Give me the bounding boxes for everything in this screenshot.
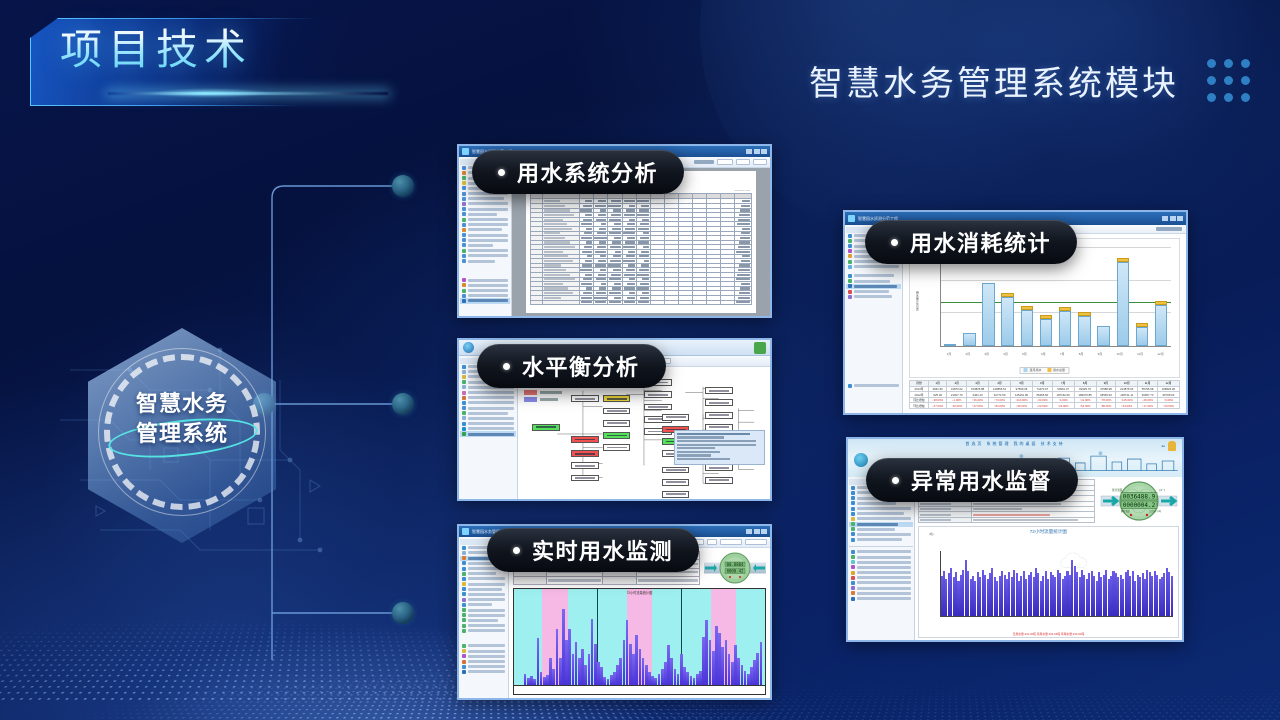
window-controls[interactable]	[746, 149, 767, 154]
tree-node[interactable]	[662, 491, 690, 498]
card-label-water-consumption-statistics[interactable]: 用水消耗统计	[865, 220, 1077, 264]
window-controls[interactable]	[1162, 216, 1183, 221]
app-icon	[462, 528, 469, 535]
bullet-icon	[891, 239, 898, 246]
svg-text:[m³]: [m³]	[1159, 488, 1165, 492]
tree-node[interactable]	[532, 424, 560, 431]
sidebar-action[interactable]	[846, 383, 901, 388]
meter-value-top: 0036488.9	[1123, 494, 1156, 501]
tree-node[interactable]	[705, 464, 733, 471]
svg-text:立方米/小时: 立方米/小时	[1149, 509, 1162, 513]
report-meta-right: ───── ──	[734, 188, 750, 192]
header-subtitle: 智慧水务管理系统模块	[809, 56, 1179, 105]
bullet-icon	[503, 363, 510, 370]
diagram-tooltip	[674, 430, 765, 464]
chart-bars	[524, 595, 763, 685]
sidebar-action[interactable]	[846, 294, 901, 299]
table-row	[918, 517, 1094, 522]
connector-node-bottom	[392, 602, 414, 624]
bullet-icon	[513, 547, 520, 554]
card-label-text: 实时用水监测	[532, 534, 673, 566]
chart-xtick: 4月	[1003, 352, 1008, 356]
card-label-text: 用水消耗统计	[910, 226, 1051, 258]
card-label-abnormal-water-supervision[interactable]: 异常用水监督	[866, 458, 1078, 502]
tree-node[interactable]	[571, 395, 599, 402]
chart-legend: 逐月用水 用水总量	[1020, 367, 1069, 375]
chart-bar	[1021, 306, 1033, 346]
chart-xtick: 9月	[1098, 352, 1103, 356]
tree-node[interactable]	[603, 408, 631, 415]
chart-bar	[1171, 576, 1173, 616]
chart-bar	[944, 345, 956, 346]
chart-bar	[982, 283, 994, 346]
banner-menu[interactable]: 首选页 系统管理 我的桌面 技术支持	[965, 441, 1064, 447]
tree-node[interactable]	[662, 479, 690, 486]
tree-node[interactable]	[571, 475, 599, 482]
chart-bar	[1117, 258, 1129, 346]
consumption-data-table: 月份1月2月3月4月5月6月7月8月9月10月11月12月2013年2861.9…	[909, 380, 1180, 409]
chart-x-axis	[514, 685, 765, 694]
chart-xtick: 11月	[1137, 352, 1143, 356]
page-header: 项目技术 智慧水务管理系统模块	[0, 0, 1280, 138]
chart-bar	[963, 333, 975, 346]
tree-node[interactable]	[571, 436, 599, 443]
chart-title: 72小时流量统计图	[626, 590, 652, 595]
chart-bar	[1155, 301, 1167, 345]
chart-xtick: 1月	[947, 352, 952, 356]
chart-xtick: 10月	[1117, 352, 1123, 356]
card-label-text: 水平衡分析	[522, 350, 640, 382]
legend-label: 逐月用水	[1029, 368, 1041, 372]
app-logo-icon	[463, 342, 474, 353]
abnormal-flow-chart: 72小时流量统计图 (吨) 日用水量:232.30吨 月用水量:226.95吨 …	[918, 526, 1179, 638]
card-label-water-balance-analysis[interactable]: 水平衡分析	[477, 344, 666, 388]
window-controls[interactable]	[746, 529, 767, 534]
chart-xtick: 3月	[984, 352, 989, 356]
chart-ylabel: 用水量(立方米)	[915, 291, 919, 311]
tree-node[interactable]	[603, 420, 631, 427]
tree-node[interactable]	[644, 404, 672, 411]
sidebar-item-selected[interactable]	[460, 431, 516, 436]
chart-bar	[760, 642, 763, 685]
chart-xtick: 5月	[1022, 352, 1027, 356]
chart-bar	[1059, 307, 1071, 345]
realtime-bar-chart: 72小时流量统计图	[513, 588, 766, 695]
table-row: 环比增幅↓27.00%↑10.00%↑47.00%↑84.00%↓59.00%↓…	[909, 403, 1179, 409]
tree-node[interactable]	[705, 399, 733, 406]
chart-footer-note: 日用水量:232.30吨 月用水量:226.95吨 年用水量:230.90吨	[919, 632, 1178, 636]
chart-xtick: 7月	[1060, 352, 1065, 356]
legend-label: 用水总量	[1053, 368, 1065, 372]
water-meter-icon: 00.8804 0000.42	[704, 551, 766, 585]
water-meter-icon: 累计流量 [m³] 0036488.9 0000004.2 瞬时流量 立方米/小…	[1099, 479, 1179, 523]
card-label-text: 用水系统分析	[517, 156, 658, 188]
chart-bar	[1078, 312, 1090, 346]
chart-xtick: 12月	[1157, 352, 1163, 356]
connector-node-top	[392, 175, 414, 197]
chart-title: 72小时流量统计图	[1030, 529, 1067, 535]
app-icon	[848, 215, 855, 222]
chart-bar	[1097, 326, 1109, 345]
connector-node-middle	[392, 393, 414, 415]
tree-node[interactable]	[705, 387, 733, 394]
chart-xtick: 6月	[1041, 352, 1046, 356]
chart-xtick: 2月	[966, 352, 971, 356]
report-table	[530, 193, 752, 305]
sidebar-action[interactable]	[849, 596, 913, 601]
bullet-icon	[892, 477, 899, 484]
hub-label-line2: 管理系统	[82, 420, 282, 450]
bullet-icon	[498, 169, 505, 176]
sidebar-action[interactable]	[460, 669, 507, 674]
tree-node[interactable]	[705, 477, 733, 484]
tree-node[interactable]	[603, 432, 631, 439]
title-underline	[108, 92, 388, 95]
svg-text:累计流量: 累计流量	[1112, 488, 1123, 492]
tree-node[interactable]	[644, 391, 672, 398]
meter-value-bottom: 0000004.2	[1123, 502, 1156, 509]
chart-bar	[1040, 315, 1052, 345]
status-icon	[754, 342, 766, 354]
sidebar-item-selected[interactable]	[460, 298, 510, 303]
tree-node[interactable]	[603, 444, 631, 451]
chart-bar	[1001, 293, 1013, 346]
chart-xticks: 1月2月3月4月5月6月7月8月9月10月11月12月	[940, 352, 1171, 356]
cloud-watermark	[1054, 543, 1121, 580]
tree-node[interactable]	[603, 395, 631, 402]
svg-text:0000.42: 0000.42	[727, 569, 744, 574]
chart-xtick: 8月	[1079, 352, 1084, 356]
hub-label: 智慧水务 管理系统	[82, 390, 282, 450]
hub-label-line1: 智慧水务	[82, 390, 282, 420]
hub-hexagon-badge: 智慧水务 管理系统	[82, 328, 282, 543]
svg-text:00.8804: 00.8804	[727, 562, 744, 567]
tree-node[interactable]	[662, 467, 690, 474]
tree-node[interactable]	[571, 450, 599, 457]
table-total-row	[530, 300, 751, 305]
page-title: 项目技术	[60, 16, 252, 77]
tree-node[interactable]	[571, 462, 599, 469]
tree-node[interactable]	[705, 412, 733, 419]
svg-text:瞬时流量: 瞬时流量	[1121, 509, 1131, 513]
grid-dots-icon	[1207, 59, 1250, 102]
card-label-text: 异常用水监督	[911, 464, 1052, 496]
card-label-water-system-analysis[interactable]: 用水系统分析	[472, 150, 684, 194]
table-body	[530, 199, 751, 300]
app-icon	[462, 148, 469, 155]
tree-node[interactable]	[662, 414, 690, 421]
card-label-realtime-water-monitoring[interactable]: 实时用水监测	[487, 528, 699, 572]
chart-ylabel: (吨)	[929, 532, 933, 536]
user-badge[interactable]: ●●	[1161, 441, 1176, 451]
chart-bar	[1136, 323, 1148, 346]
header-right-group: 智慧水务管理系统模块	[809, 56, 1250, 105]
